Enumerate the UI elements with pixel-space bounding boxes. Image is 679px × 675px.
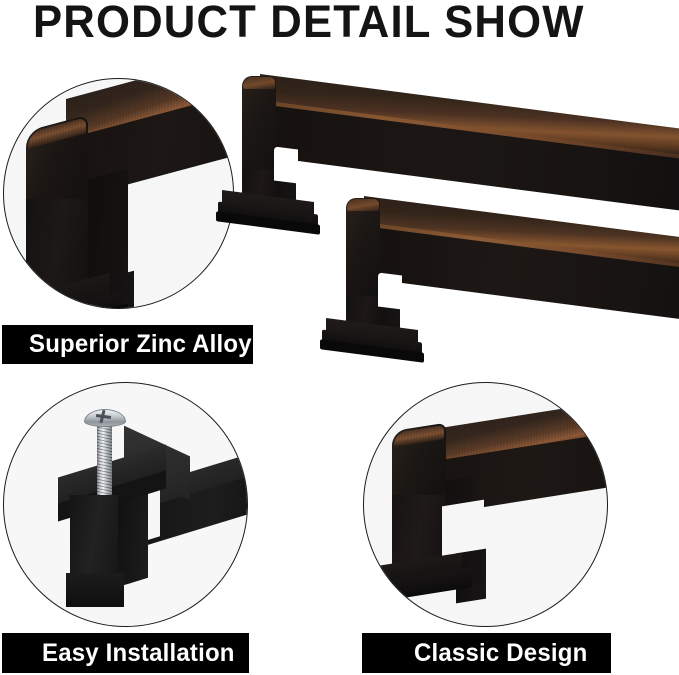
handle-end-cap (346, 198, 380, 310)
caption-bar-easy-installation: Easy Installation (2, 633, 249, 673)
cabinet-pull-corner-icon (364, 383, 607, 626)
cabinet-pull-end-closeup-icon (4, 79, 233, 308)
page-title: PRODUCT DETAIL SHOW (33, 0, 585, 48)
caption-label: Classic Design (414, 639, 587, 668)
handle-inner-notch (378, 272, 402, 309)
handle-inner-notch (274, 146, 298, 183)
cabinet-pull-handle-lower (340, 192, 679, 382)
cabinet-pull-handle-pair-icon (236, 70, 679, 380)
pull-column-foot (66, 573, 124, 607)
product-detail-page: PRODUCT DETAIL SHOW Superior Zinc Alloy (0, 0, 679, 675)
caption-bar-superior-zinc-alloy: Superior Zinc Alloy (2, 325, 253, 364)
caption-bar-classic-design: Classic Design (362, 633, 611, 673)
handle-end-cap-highlight (347, 199, 379, 211)
screw-threads (97, 421, 112, 495)
detail-circle-classic-design (363, 382, 608, 627)
caption-label: Superior Zinc Alloy (29, 330, 252, 359)
caption-label: Easy Installation (42, 639, 235, 668)
detail-circle-superior-zinc-alloy (3, 78, 234, 309)
handle-end-cap (242, 76, 276, 184)
detail-circle-easy-installation (3, 382, 248, 627)
handle-end-cap-highlight (243, 77, 275, 89)
screw-installation-icon (4, 383, 247, 626)
